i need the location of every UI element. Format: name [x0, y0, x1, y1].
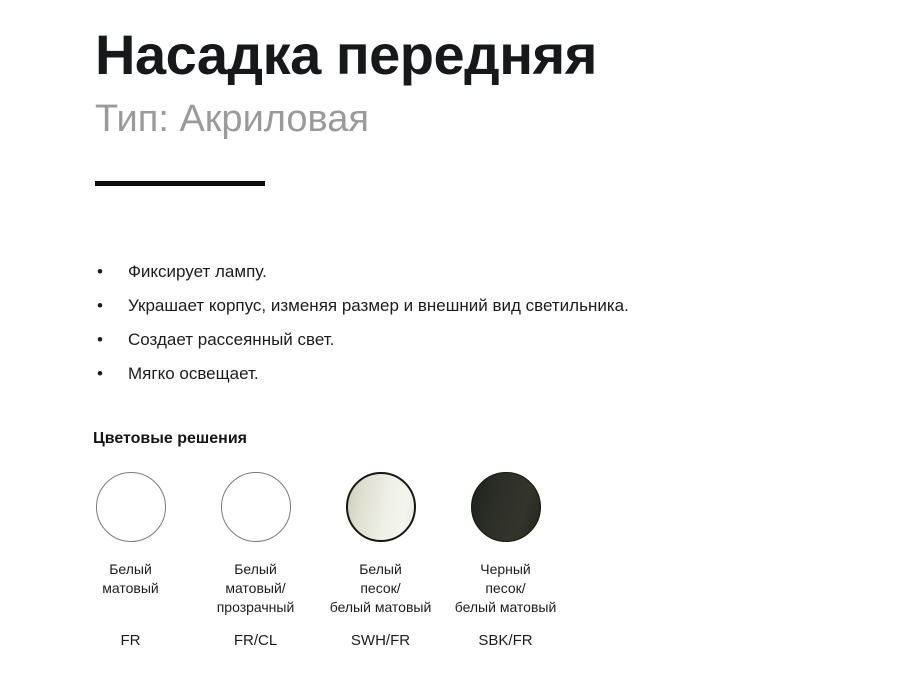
swatch-label-line: прозрачный [194, 598, 318, 617]
swatch-label-line: матовый [69, 579, 193, 598]
swatch-label-line: Белый [194, 560, 318, 579]
color-swatch-frcl[interactable]: Белый матовый/ прозрачный [193, 472, 318, 617]
swatch-code: FR/CL [193, 632, 318, 649]
color-swatch-sbkfr[interactable]: Черный песок/ белый матовый [443, 472, 568, 617]
swatch-label-line: песок/ [319, 579, 443, 598]
bullet-icon: • [97, 289, 103, 323]
page-header: Насадка передняя Тип: Акриловая [95, 26, 855, 141]
swatch-label-line: Черный [444, 560, 568, 579]
swatch-code: SWH/FR [318, 632, 443, 649]
swatch-label-line: матовый/ [194, 579, 318, 598]
product-spec-page: Насадка передняя Тип: Акриловая • Фиксир… [0, 0, 900, 700]
list-item: • Создает рассеянный свет. [95, 323, 875, 357]
swatch-label-line: белый матовый [444, 598, 568, 617]
header-divider [95, 181, 265, 186]
color-code-row: FR FR/CL SWH/FR SBK/FR [68, 632, 588, 649]
bullet-icon: • [97, 357, 103, 391]
swatch-label: Белый матовый/ прозрачный [194, 560, 318, 617]
list-item-label: Мягко освещает. [128, 364, 259, 383]
list-item: • Фиксирует лампу. [95, 255, 875, 289]
swatch-label-line: белый матовый [319, 598, 443, 617]
swatch-disc-icon[interactable] [346, 472, 416, 542]
list-item: • Украшает корпус, изменяя размер и внеш… [95, 289, 875, 323]
feature-list: • Фиксирует лампу. • Украшает корпус, из… [95, 255, 875, 391]
swatch-code: FR [68, 632, 193, 649]
list-item: • Мягко освещает. [95, 357, 875, 391]
swatch-disc-icon[interactable] [471, 472, 541, 542]
swatch-label-line: Белый [319, 560, 443, 579]
swatch-label: Черный песок/ белый матовый [444, 560, 568, 617]
bullet-icon: • [97, 255, 103, 289]
color-swatch-fr[interactable]: Белый матовый [68, 472, 193, 598]
swatch-code: SBK/FR [443, 632, 568, 649]
color-swatch-row: Белый матовый Белый матовый/ прозрачный … [68, 472, 588, 617]
color-options-heading: Цветовые решения [93, 430, 247, 448]
swatch-label-line: Белый [69, 560, 193, 579]
swatch-disc-icon[interactable] [221, 472, 291, 542]
list-item-label: Фиксирует лампу. [128, 262, 267, 281]
page-title: Насадка передняя [95, 26, 855, 85]
bullet-icon: • [97, 323, 103, 357]
swatch-label: Белый песок/ белый матовый [319, 560, 443, 617]
color-swatch-swhfr[interactable]: Белый песок/ белый матовый [318, 472, 443, 617]
swatch-label-line: песок/ [444, 579, 568, 598]
swatch-label: Белый матовый [69, 560, 193, 598]
list-item-label: Украшает корпус, изменяя размер и внешни… [128, 296, 629, 315]
page-subtitle: Тип: Акриловая [95, 99, 855, 141]
swatch-disc-icon[interactable] [96, 472, 166, 542]
list-item-label: Создает рассеянный свет. [128, 330, 334, 349]
